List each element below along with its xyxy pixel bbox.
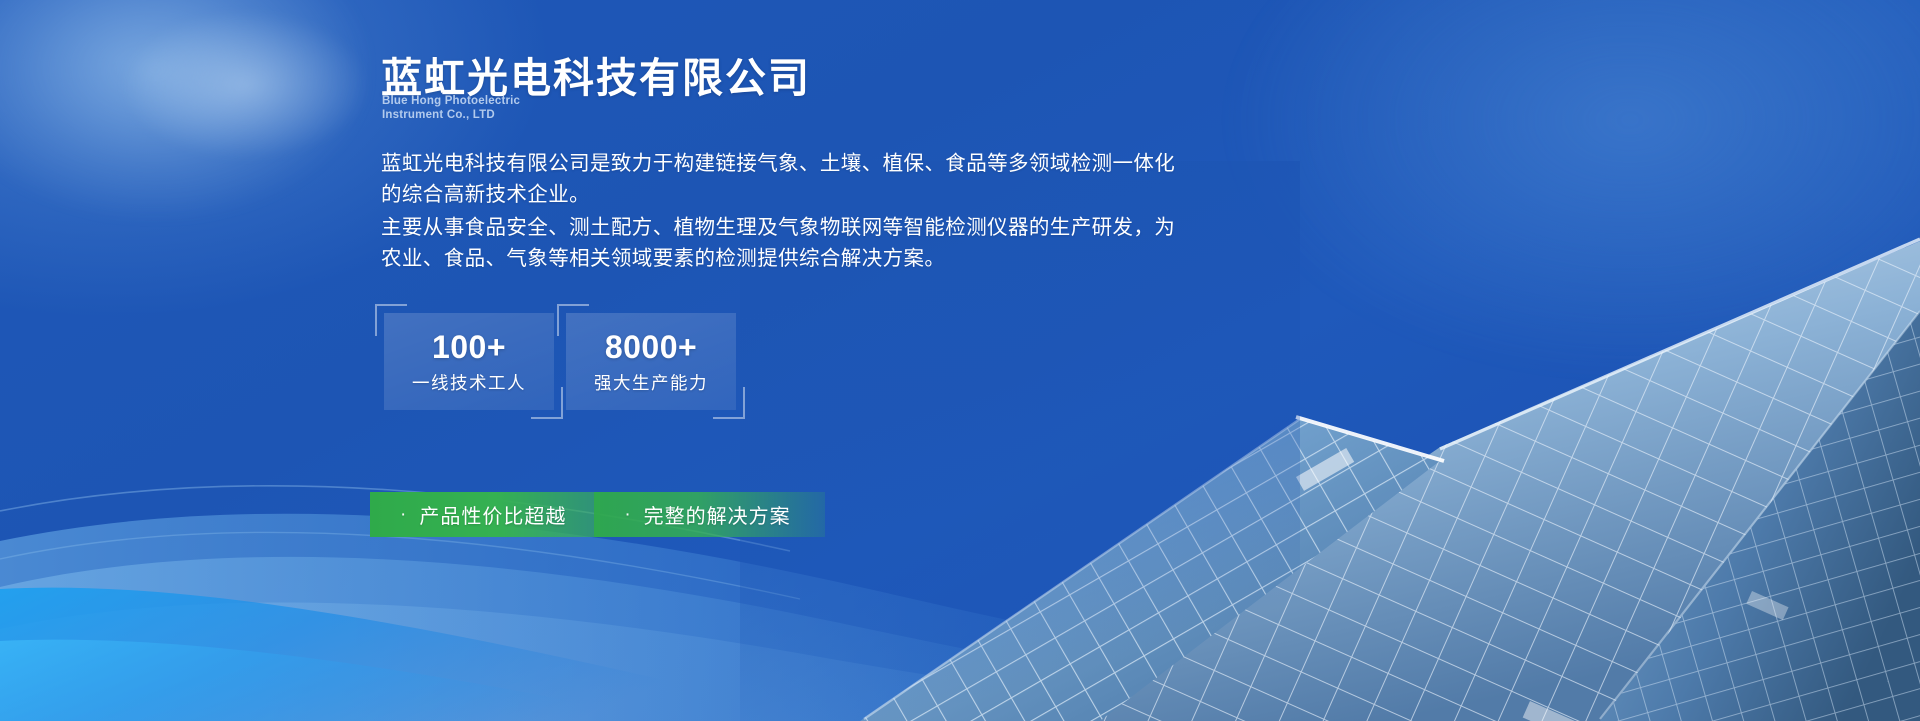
- company-name-en-line2: Instrument Co., LTD: [382, 108, 520, 122]
- stat-label: 一线技术工人: [412, 375, 526, 393]
- company-name-en-line1: Blue Hong Photoelectric: [382, 94, 520, 108]
- stat-value: 100+: [432, 331, 506, 363]
- feature-tag-group: · 产品性价比超越 · 完整的解决方案: [370, 492, 825, 537]
- statistics-group: 100+ 一线技术工人 8000+ 强大生产能力: [384, 313, 736, 410]
- stat-value: 8000+: [605, 331, 697, 363]
- feature-tag-label: 完整的解决方案: [644, 500, 791, 529]
- description-paragraph-1: 蓝虹光电科技有限公司是致力于构建链接气象、土壤、植保、食品等多领域检测一体化的综…: [381, 148, 1191, 210]
- bullet-icon: ·: [400, 505, 407, 524]
- banner-content: 蓝虹光电科技有限公司 Blue Hong Photoelectric Instr…: [0, 0, 1920, 721]
- bullet-icon: ·: [624, 505, 631, 524]
- description-paragraph-2: 主要从事食品安全、测土配方、植物生理及气象物联网等智能检测仪器的生产研发，为农业…: [381, 212, 1191, 274]
- stat-card-capacity: 8000+ 强大生产能力: [566, 313, 736, 410]
- stat-label: 强大生产能力: [594, 375, 708, 393]
- stat-card-workers: 100+ 一线技术工人: [384, 313, 554, 410]
- hero-banner: 蓝虹光电科技有限公司 Blue Hong Photoelectric Instr…: [0, 0, 1920, 721]
- feature-tag-solution: · 完整的解决方案: [594, 492, 824, 537]
- feature-tag-label: 产品性价比超越: [419, 500, 566, 529]
- company-name-en: Blue Hong Photoelectric Instrument Co., …: [382, 94, 520, 122]
- feature-tag-value: · 产品性价比超越: [370, 492, 600, 537]
